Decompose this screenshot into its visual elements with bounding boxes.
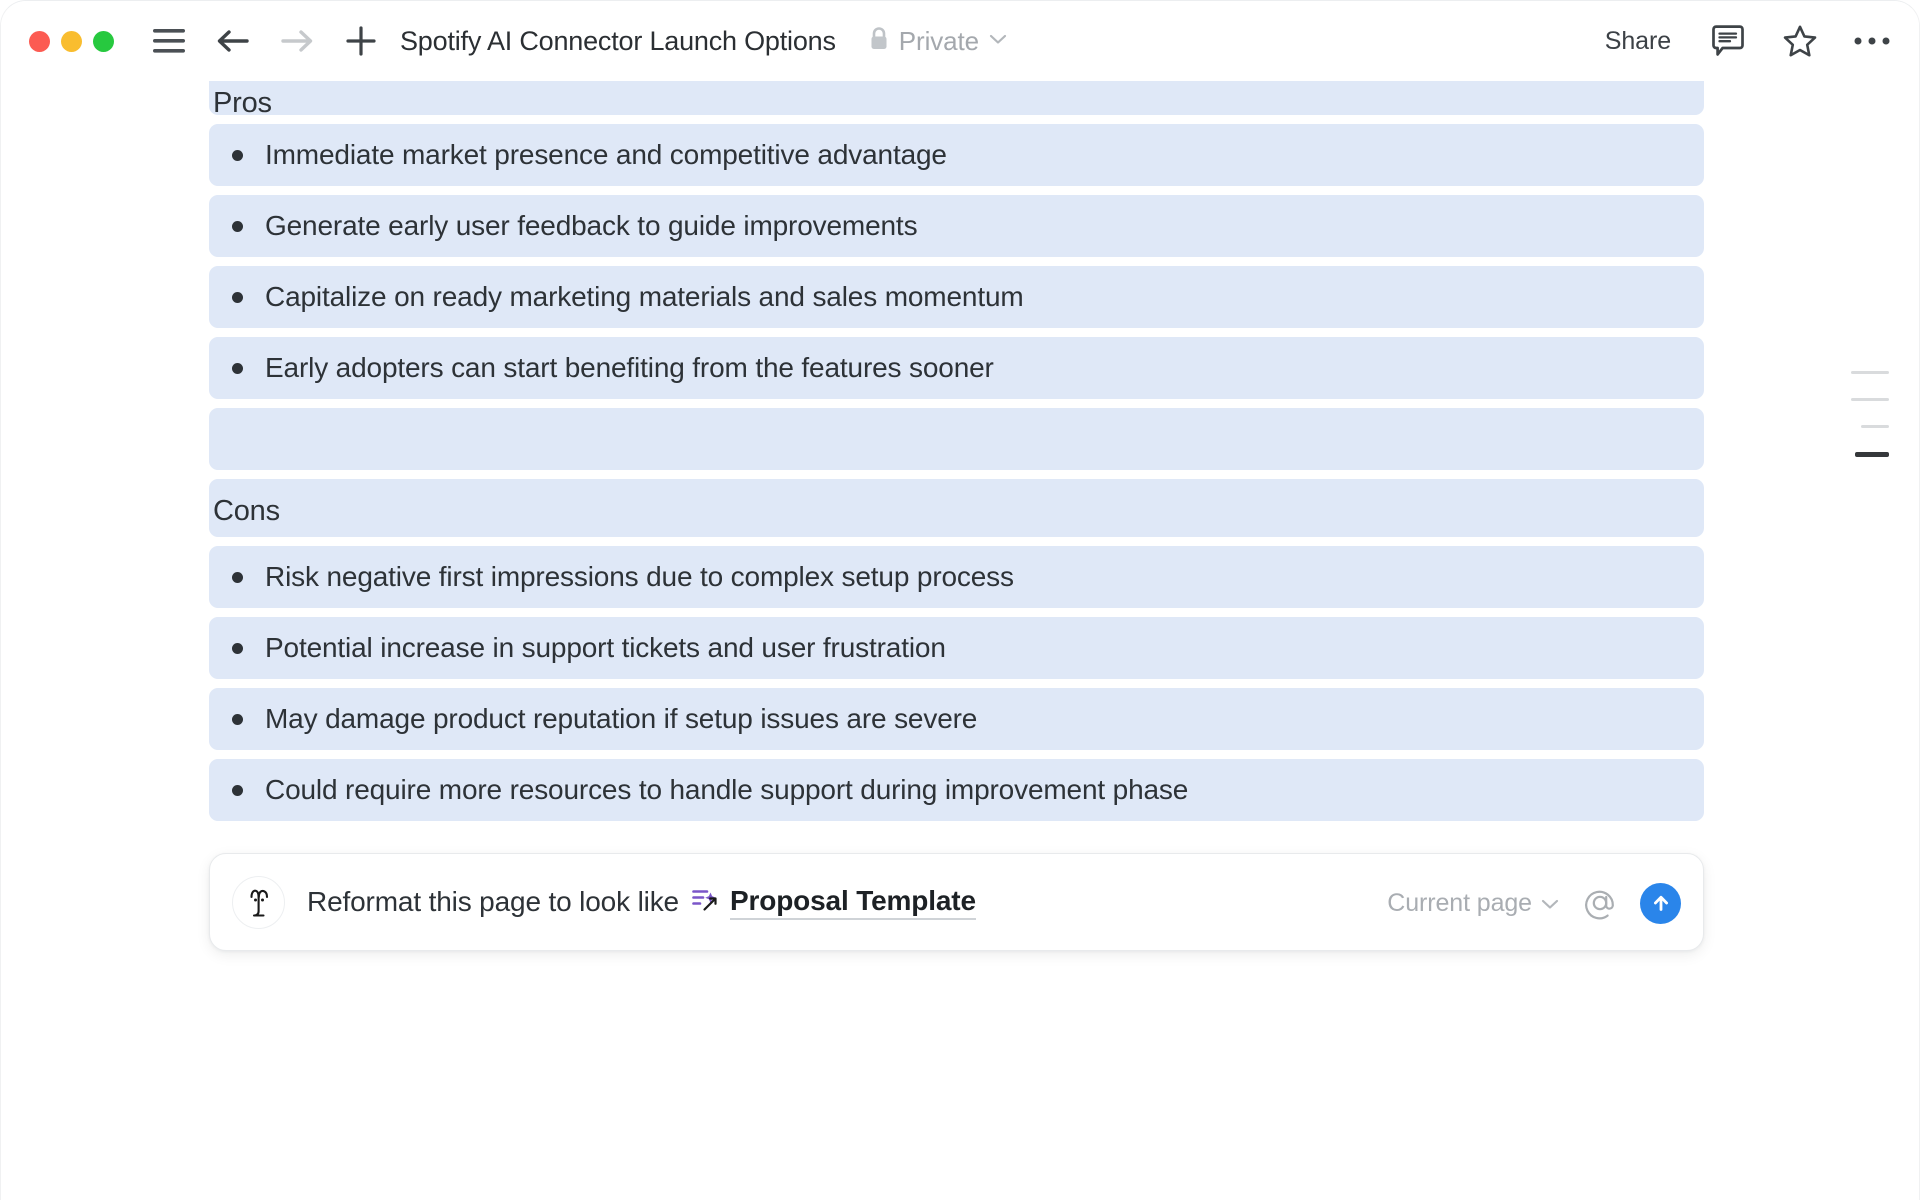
outline-dash-active[interactable] [1855, 452, 1889, 457]
arrow-left-icon[interactable] [210, 18, 256, 64]
share-button[interactable]: Share [1599, 21, 1677, 62]
plus-icon[interactable] [338, 18, 384, 64]
maximize-window-button[interactable] [93, 31, 114, 52]
close-window-button[interactable] [29, 31, 50, 52]
document-canvas: Pros Immediate market presence and compe… [1, 81, 1920, 1200]
at-mention-icon[interactable] [1582, 885, 1618, 921]
bullet-point-icon [232, 572, 243, 583]
bullet-point-icon [232, 150, 243, 161]
privacy-selector[interactable]: Private [868, 26, 1008, 57]
ai-assistant-icon [232, 876, 285, 929]
ellipsis-icon[interactable] [1851, 20, 1893, 62]
list-item[interactable]: Risk negative first impressions due to c… [209, 546, 1704, 608]
privacy-label: Private [899, 26, 979, 57]
arrow-right-icon[interactable] [274, 18, 320, 64]
bullet-point-icon [232, 363, 243, 374]
list-item[interactable]: Could require more resources to handle s… [209, 759, 1704, 821]
comment-icon[interactable] [1707, 20, 1749, 62]
prompt-input[interactable]: Reformat this page to look like Proposal… [307, 885, 976, 920]
list-item[interactable]: Early adopters can start benefiting from… [209, 337, 1704, 399]
list-item[interactable]: May damage product reputation if setup i… [209, 688, 1704, 750]
list-item[interactable]: Potential increase in support tickets an… [209, 617, 1704, 679]
traffic-lights [29, 31, 114, 52]
star-icon[interactable] [1779, 20, 1821, 62]
scope-selector[interactable]: Current page [1387, 889, 1560, 918]
chevron-down-icon [1540, 889, 1560, 918]
scope-label: Current page [1387, 889, 1532, 918]
list-item[interactable]: Capitalize on ready marketing materials … [209, 266, 1704, 328]
outline-dash[interactable] [1851, 371, 1889, 374]
send-prompt-button[interactable] [1640, 883, 1681, 924]
list-item[interactable]: Immediate market presence and competitiv… [209, 124, 1704, 186]
section-heading-pros[interactable]: Pros [209, 81, 1704, 115]
template-mention-icon [691, 885, 721, 920]
outline-dash[interactable] [1861, 425, 1889, 428]
titlebar-actions: Share [1599, 1, 1893, 81]
bullet-point-icon [232, 292, 243, 303]
outline-minimap[interactable] [1851, 371, 1889, 457]
chevron-down-icon [988, 32, 1008, 51]
hamburger-menu-icon[interactable] [146, 18, 192, 64]
lock-icon [868, 26, 890, 57]
list-item[interactable]: Generate early user feedback to guide im… [209, 195, 1704, 257]
outline-dash[interactable] [1851, 398, 1889, 401]
minimize-window-button[interactable] [61, 31, 82, 52]
prompt-bar-actions: Current page [1387, 854, 1681, 952]
section-heading-cons[interactable]: Cons [209, 479, 1704, 537]
empty-block[interactable] [209, 408, 1704, 470]
bullet-point-icon [232, 714, 243, 725]
template-name: Proposal Template [730, 885, 976, 920]
nav-controls [146, 18, 384, 64]
ai-prompt-bar[interactable]: Reformat this page to look like Proposal… [209, 853, 1704, 951]
page-title[interactable]: Spotify AI Connector Launch Options [400, 26, 836, 57]
bullet-point-icon [232, 785, 243, 796]
prompt-text-before: Reformat this page to look like [307, 886, 679, 918]
titlebar: Spotify AI Connector Launch Options Priv… [1, 1, 1920, 81]
bullet-point-icon [232, 221, 243, 232]
bullet-point-icon [232, 643, 243, 654]
app-window: Spotify AI Connector Launch Options Priv… [0, 0, 1920, 1200]
template-mention[interactable]: Proposal Template [691, 885, 976, 920]
